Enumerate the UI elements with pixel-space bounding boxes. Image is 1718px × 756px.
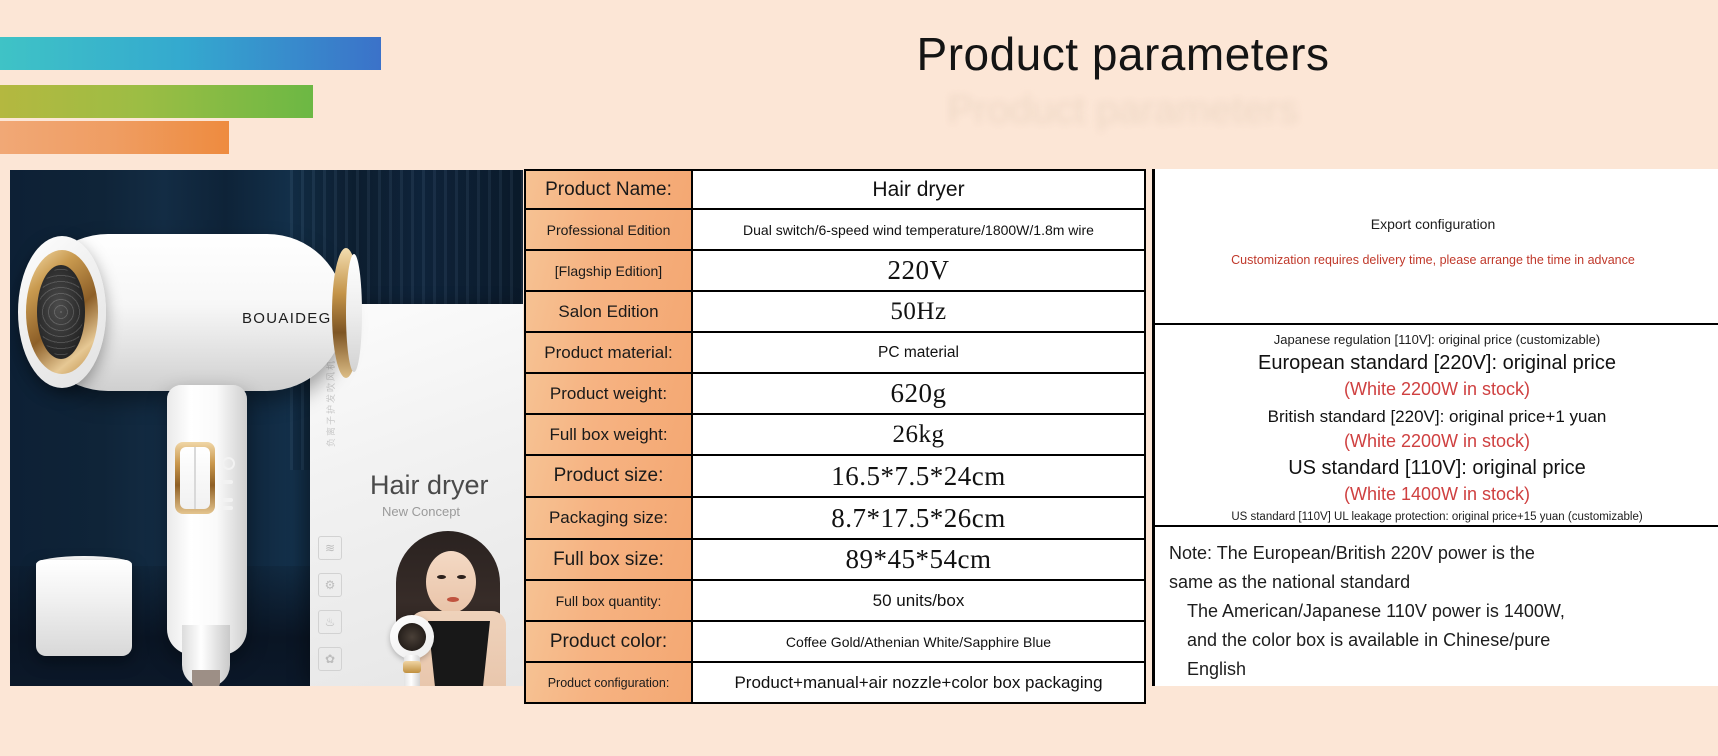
page-title: Product parameters	[888, 27, 1358, 81]
table-row: Salon Edition 50Hz	[525, 291, 1145, 332]
spec-value-full-box-size: 89*45*54cm	[692, 539, 1145, 580]
standard-british: British standard [220V]: original price+…	[1155, 407, 1718, 427]
speed-indicator-2-icon	[222, 498, 233, 502]
spec-value-professional-edition: Dual switch/6-speed wind temperature/180…	[692, 209, 1145, 250]
gear-icon: ⚙	[318, 573, 342, 597]
model-photo	[380, 525, 523, 686]
note-line-5: English	[1169, 655, 1703, 684]
spec-key-professional-edition: Professional Edition	[525, 209, 692, 250]
note-line-1: Note: The European/British 220V power is…	[1169, 539, 1703, 568]
model-left-eye	[437, 575, 446, 579]
export-configuration-panel: Export configuration Customization requi…	[1152, 169, 1718, 686]
standard-british-stock: (White 2200W in stock)	[1155, 431, 1718, 452]
hair-dryer-rear-cap	[346, 254, 362, 372]
spec-value-packaging-size: 8.7*17.5*26cm	[692, 497, 1145, 539]
orange-bar	[0, 121, 229, 154]
standard-european: European standard [220V]: original price	[1155, 352, 1718, 375]
spec-value-salon-edition: 50Hz	[692, 291, 1145, 332]
standard-japanese: Japanese regulation [110V]: original pri…	[1155, 332, 1718, 347]
fan-icon: ✿	[318, 647, 342, 671]
spec-value-product-weight: 620g	[692, 373, 1145, 414]
spec-key-full-box-size: Full box size:	[525, 539, 692, 580]
table-row: Product Name: Hair dryer	[525, 170, 1145, 209]
spec-value-flagship-edition: 220V	[692, 250, 1145, 291]
note-line-3: The American/Japanese 110V power is 1400…	[1169, 597, 1703, 626]
hair-dryer-grille	[39, 268, 83, 356]
table-row: Packaging size: 8.7*17.5*26cm	[525, 497, 1145, 539]
export-config-title: Export configuration	[1155, 216, 1711, 232]
standard-us-stock: (White 1400W in stock)	[1155, 484, 1718, 505]
spec-key-flagship-edition: [Flagship Edition]	[525, 250, 692, 291]
page-title-ghost: Product parameters	[888, 88, 1358, 133]
speed-indicator-off-icon	[222, 457, 235, 470]
table-row: Product material: PC material	[525, 332, 1145, 373]
spec-key-product-configuration: Product configuration:	[525, 662, 692, 703]
retail-box-chinese-text: 负离子护发吹风机	[324, 359, 337, 447]
speed-indicator-1-icon	[222, 480, 233, 484]
hair-dryer-cord	[192, 670, 220, 686]
model-lips	[447, 597, 459, 602]
model-face	[426, 551, 476, 613]
export-panel-header: Export configuration Customization requi…	[1155, 169, 1718, 325]
export-notes: Note: The European/British 220V power is…	[1155, 527, 1718, 686]
note-line-4: and the color box is available in Chines…	[1169, 626, 1703, 655]
standard-european-stock: (White 2200W in stock)	[1155, 379, 1718, 400]
table-row: Professional Edition Dual switch/6-speed…	[525, 209, 1145, 250]
page-header: Product parameters Product parameters	[0, 0, 1718, 168]
table-row: Product size: 16.5*7.5*24cm	[525, 455, 1145, 497]
wind-icon: ≋	[318, 536, 342, 560]
specification-table: Product Name: Hair dryer Professional Ed…	[524, 169, 1146, 704]
table-row: Full box size: 89*45*54cm	[525, 539, 1145, 580]
table-row: Full box weight: 26kg	[525, 414, 1145, 455]
spec-key-full-box-weight: Full box weight:	[525, 414, 692, 455]
table-row: Product weight: 620g	[525, 373, 1145, 414]
spec-key-product-name: Product Name:	[525, 170, 692, 209]
blue-bar	[0, 37, 381, 70]
model-right-eye	[457, 575, 466, 579]
retail-box-feature-icons: ≋ ⚙ ♨ ✿	[318, 536, 344, 684]
standard-us: US standard [110V]: original price	[1155, 457, 1718, 480]
spec-key-product-material: Product material:	[525, 332, 692, 373]
hair-dryer-switch-divider	[194, 447, 196, 509]
table-row: Product color: Coffee Gold/Athenian Whit…	[525, 621, 1145, 662]
table-row: [Flagship Edition] 220V	[525, 250, 1145, 291]
hair-dryer-handle	[167, 385, 247, 655]
table-row: Product configuration: Product+manual+ai…	[525, 662, 1145, 703]
mini-dryer-gold-ring	[403, 661, 421, 673]
spec-key-product-color: Product color:	[525, 621, 692, 662]
spec-key-product-size: Product size:	[525, 455, 692, 497]
spec-value-product-name: Hair dryer	[692, 170, 1145, 209]
spec-value-full-box-weight: 26kg	[692, 414, 1145, 455]
spec-key-salon-edition: Salon Edition	[525, 291, 692, 332]
note-line-2: same as the national standard	[1169, 568, 1703, 597]
spec-value-product-size: 16.5*7.5*24cm	[692, 455, 1145, 497]
nozzle-accessory	[36, 560, 132, 656]
export-standards-list: Japanese regulation [110V]: original pri…	[1155, 325, 1718, 527]
table-row: Full box quantity: 50 units/box	[525, 580, 1145, 621]
standard-us-ul: US standard [110V] UL leakage protection…	[1155, 511, 1718, 523]
spec-value-product-configuration: Product+manual+air nozzle+color box pack…	[692, 662, 1145, 703]
mini-dryer-inlet	[398, 623, 426, 651]
spec-key-packaging-size: Packaging size:	[525, 497, 692, 539]
model-held-dryer	[386, 615, 440, 686]
spec-key-full-box-quantity: Full box quantity:	[525, 580, 692, 621]
brand-label: BOUAIDEG	[242, 310, 332, 327]
heat-icon: ♨	[318, 610, 342, 634]
spec-value-product-material: PC material	[692, 332, 1145, 373]
export-customization-note: Customization requires delivery time, pl…	[1155, 253, 1711, 267]
speed-indicator-3-icon	[222, 506, 233, 510]
spec-value-product-color: Coffee Gold/Athenian White/Sapphire Blue	[692, 621, 1145, 662]
retail-box-subtitle: New Concept	[382, 504, 460, 519]
spec-key-product-weight: Product weight:	[525, 373, 692, 414]
retail-box-title: Hair dryer	[370, 470, 489, 501]
product-photo: Hair dryer New Concept 负离子护发吹风机 ≋ ⚙ ♨ ✿ …	[10, 170, 523, 686]
green-bar	[0, 85, 313, 118]
spec-value-full-box-quantity: 50 units/box	[692, 580, 1145, 621]
